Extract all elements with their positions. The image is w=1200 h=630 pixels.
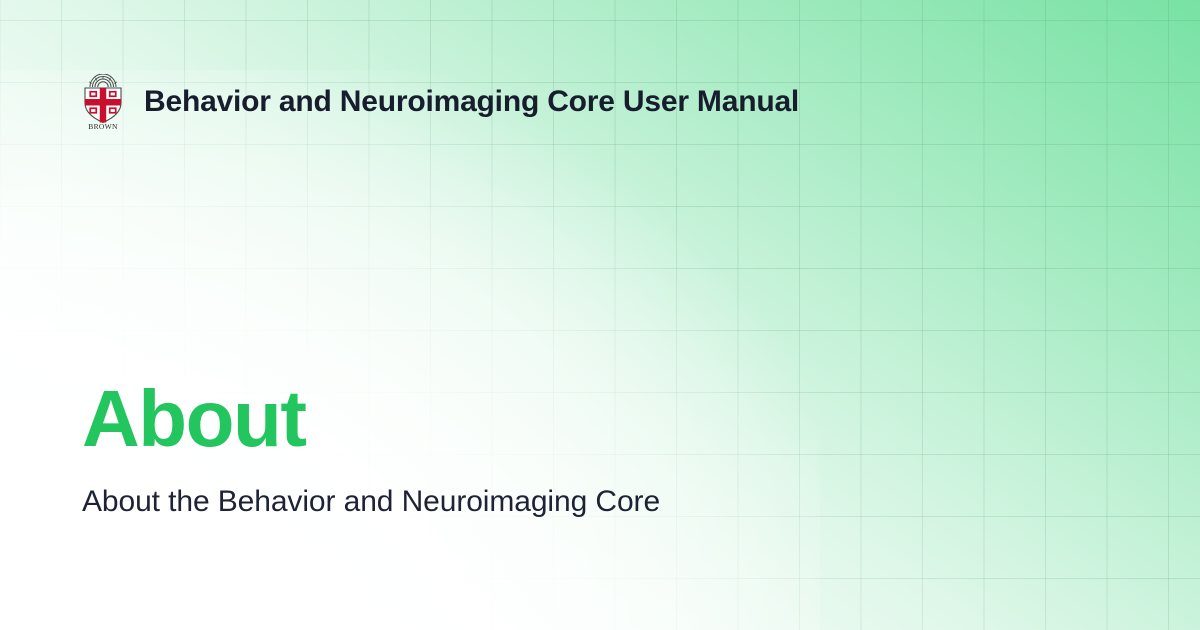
background-white-bloom — [0, 70, 820, 630]
site-header: BROWN Behavior and Neuroimaging Core Use… — [80, 74, 799, 130]
page-subtitle: About the Behavior and Neuroimaging Core — [82, 482, 1122, 521]
social-preview-card: BROWN Behavior and Neuroimaging Core Use… — [0, 0, 1200, 630]
brown-university-crest-icon: BROWN — [80, 74, 126, 130]
site-title: Behavior and Neuroimaging Core User Manu… — [144, 87, 799, 117]
page-title: About — [82, 378, 1122, 460]
svg-text:BROWN: BROWN — [88, 122, 118, 130]
hero-section: About About the Behavior and Neuroimagin… — [82, 378, 1122, 521]
